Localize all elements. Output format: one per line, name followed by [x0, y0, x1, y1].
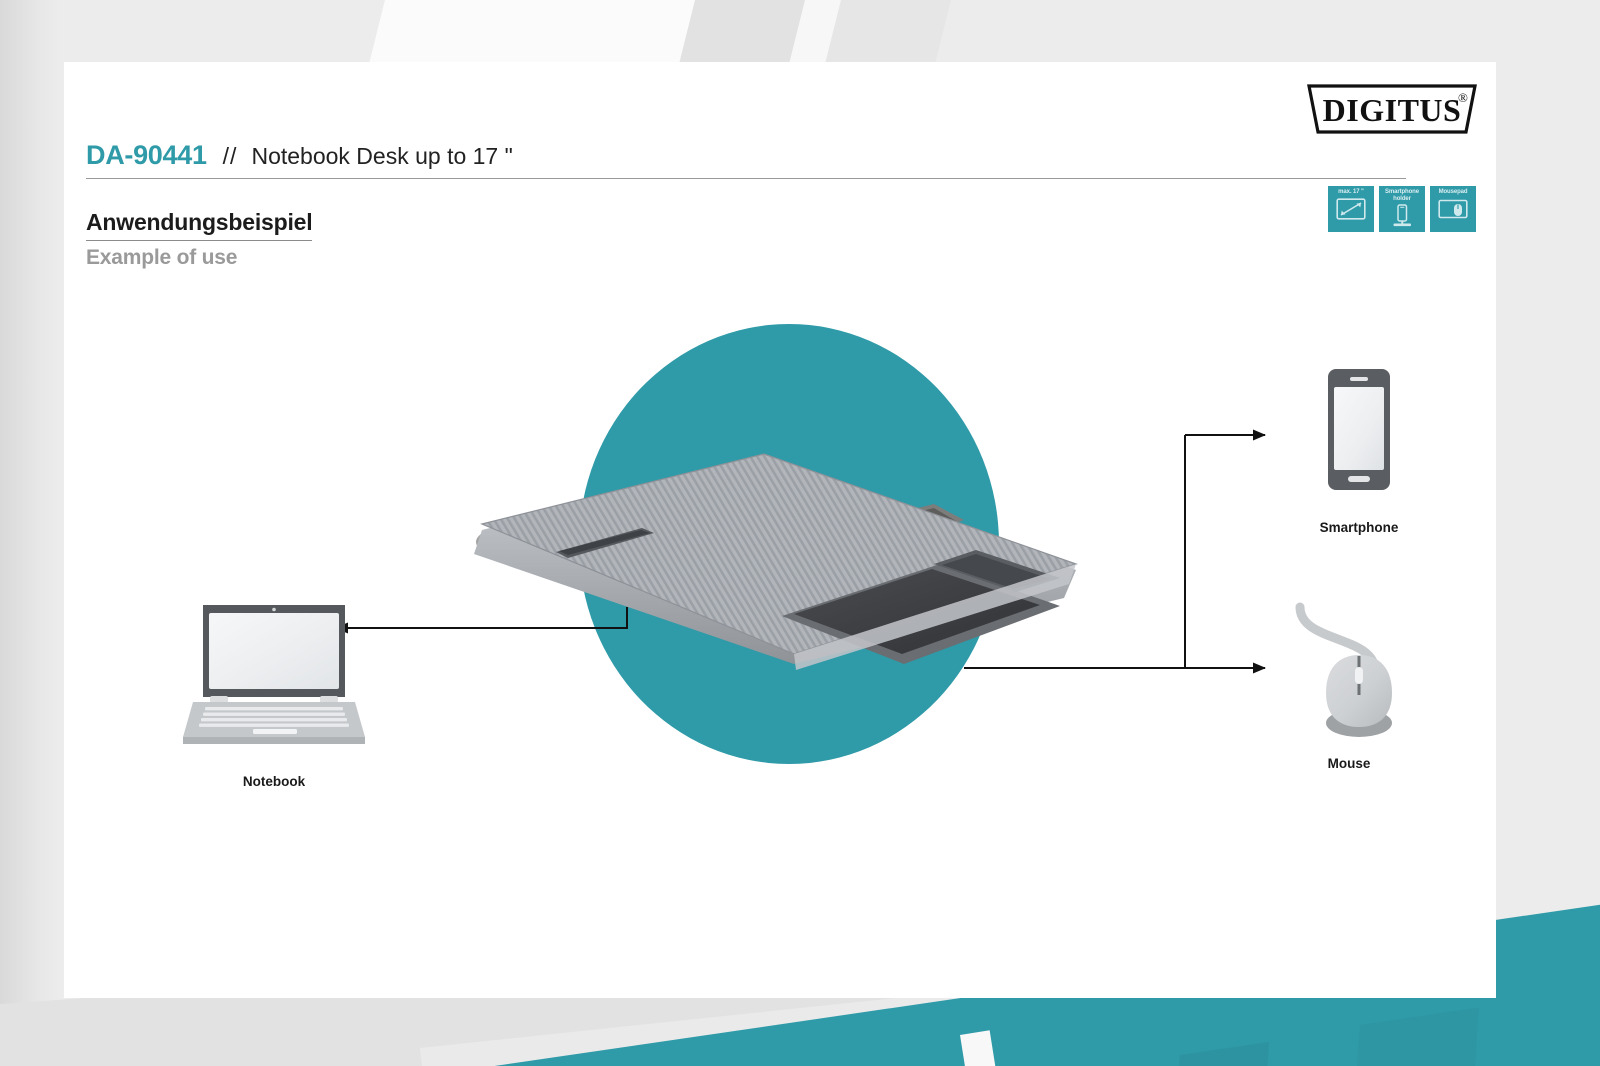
callout-label-smartphone: Smartphone: [1289, 520, 1429, 535]
laptop-icon: [179, 597, 369, 752]
smartphone-icon: [1324, 367, 1394, 492]
mouse-icon: [1289, 597, 1404, 747]
callout-label-mouse: Mouse: [1279, 756, 1419, 771]
callout-label-notebook: Notebook: [179, 774, 369, 789]
slide-page: DIGITUS ® DA-90441//Notebook Desk up to …: [0, 0, 1600, 1066]
usage-diagram: Notebook Smartpho: [64, 62, 1496, 998]
product-image-notebook-desk: [464, 402, 1104, 692]
content-card: DIGITUS ® DA-90441//Notebook Desk up to …: [64, 62, 1496, 998]
bg-left-gradient: [0, 0, 64, 1066]
